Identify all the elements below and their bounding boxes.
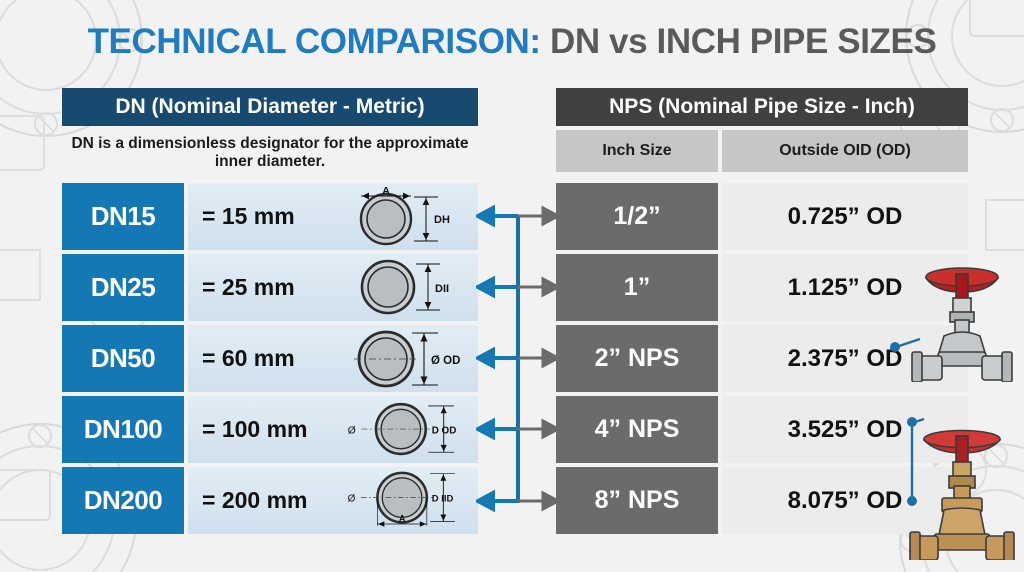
dn-panel-header: DN (Nominal Diameter - Metric) [62, 88, 478, 126]
diagram-dim-left: Ø [348, 494, 356, 505]
dn-panel-header-rest: (Nominal Diameter - Metric) [146, 95, 425, 118]
pipe-cross-section-diagram: Ø OD [346, 325, 478, 392]
dn-tag: DN100 [62, 396, 184, 463]
valve-leader-lines [890, 255, 940, 555]
dn-value: = 100 mm [188, 416, 346, 443]
dn-value: = 25 mm [188, 274, 346, 301]
nps-panel-header: NPS (Nominal Pipe Size - Inch) [556, 88, 968, 126]
dn-row-body: = 25 mm DII [188, 254, 478, 321]
dn-rows-list: DN15 = 15 mm A DH [62, 183, 478, 538]
dn-value: = 200 mm [188, 487, 346, 514]
dn-value: = 15 mm [188, 203, 346, 230]
diagram-dim-right: D IID [432, 494, 454, 505]
pipe-cross-section-diagram: A DH [346, 183, 478, 250]
dn-row[interactable]: DN25 = 25 mm DII [62, 254, 478, 321]
dn-row[interactable]: DN15 = 15 mm A DH [62, 183, 478, 250]
dn-panel-header-lead: DN [115, 95, 145, 118]
nps-size: 1/2” [556, 183, 718, 250]
dn-row-body: = 60 mm Ø OD [188, 325, 478, 392]
column-header-inch-size: Inch Size [556, 130, 718, 172]
diagram-dim-left: Ø [348, 425, 356, 436]
page-title: TECHNICAL COMPARISON: DN vs INCH PIPE SI… [0, 22, 1024, 62]
diagram-dim-bottom: A [399, 514, 406, 524]
nps-size: 4” NPS [556, 396, 718, 463]
nps-od-value: 0.725” OD [722, 183, 968, 250]
dn-panel-subtitle: DN is a dimensionless designator for the… [62, 135, 478, 172]
pipe-cross-section-diagram: Ø D IID A [346, 467, 478, 534]
dn-row-body: = 200 mm Ø D IID [188, 467, 478, 534]
dn-tag: DN50 [62, 325, 184, 392]
page-title-primary: TECHNICAL COMPARISON: [88, 22, 541, 61]
dn-row-body: = 15 mm A DH [188, 183, 478, 250]
dn-row-body: = 100 mm Ø D OD [188, 396, 478, 463]
column-header-outside-od: Outside OID (OD) [722, 130, 968, 172]
dn-row[interactable]: DN100 = 100 mm Ø D OD [62, 396, 478, 463]
nps-size: 1” [556, 254, 718, 321]
dn-panel: DN (Nominal Diameter - Metric) DN is a d… [62, 88, 478, 172]
dn-row[interactable]: DN50 = 60 mm Ø OD [62, 325, 478, 392]
diagram-dim-right: DH [434, 214, 450, 226]
nps-panel-header-lead: NPS [609, 95, 652, 118]
dn-tag: DN200 [62, 467, 184, 534]
pipe-cross-section-diagram: Ø D OD [346, 396, 478, 463]
dn-tag: DN25 [62, 254, 184, 321]
nps-column-header-row: Inch Size Outside OID (OD) [556, 130, 968, 172]
diagram-dim-right: Ø OD [431, 355, 460, 367]
diagram-dim-right: DII [435, 283, 449, 295]
pipe-cross-section-diagram: DII [346, 254, 478, 321]
diagram-dim-top: A [382, 185, 390, 197]
nps-panel: NPS (Nominal Pipe Size - Inch) Inch Size… [556, 88, 968, 172]
connector-arrows [476, 176, 560, 536]
nps-panel-header-rest: (Nominal Pipe Size - Inch) [652, 95, 915, 118]
nps-size: 2” NPS [556, 325, 718, 392]
dn-tag: DN15 [62, 183, 184, 250]
nps-row[interactable]: 1/2” 0.725” OD [556, 183, 968, 250]
dn-row[interactable]: DN200 = 200 mm Ø D IID [62, 467, 478, 534]
page-title-secondary: DN vs INCH PIPE SIZES [550, 22, 936, 61]
dn-value: = 60 mm [188, 345, 346, 372]
nps-size: 8” NPS [556, 467, 718, 534]
diagram-dim-right: D OD [432, 425, 457, 436]
